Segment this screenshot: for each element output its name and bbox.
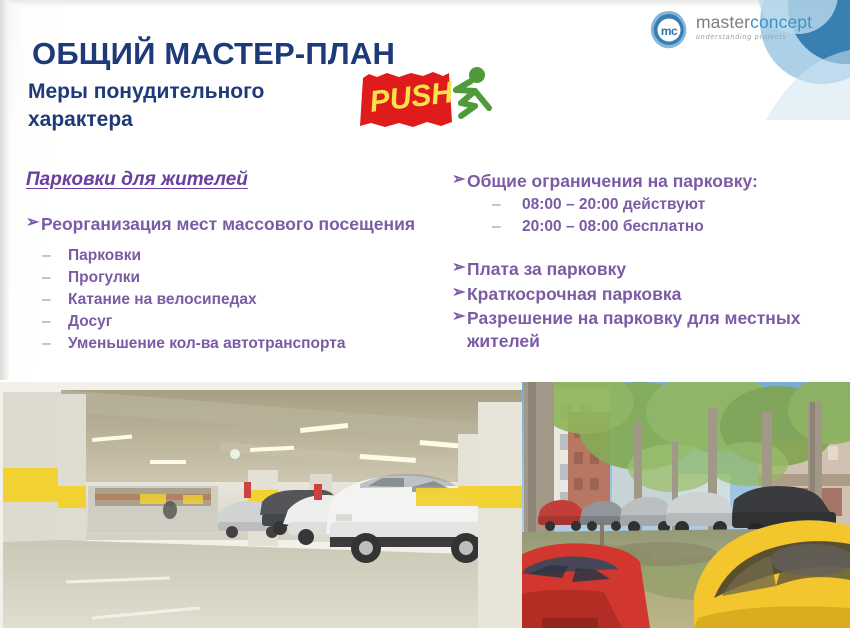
- dash-bullet-icon: –: [42, 333, 51, 355]
- bullet-short-term-parking: ➢ Краткосрочная парковка: [452, 283, 822, 305]
- bullet-parking-fee: ➢ Плата за парковку: [452, 258, 822, 280]
- sub-item-cycling: – Катание на велосипедах: [26, 289, 426, 311]
- photo-band: [0, 382, 850, 628]
- bullet-resident-permit: ➢ Разрешение на парковку для местных жит…: [452, 307, 822, 352]
- sub-item-walks: – Прогулки: [26, 267, 426, 289]
- dash-bullet-icon: –: [492, 194, 501, 216]
- street-illustration: [522, 382, 850, 628]
- mc-logo-icon: mc: [648, 9, 690, 51]
- page-subtitle: Меры понудительного характера: [28, 78, 368, 133]
- slide-canvas: mc masterconcept understanding projects …: [0, 0, 850, 628]
- photo-street-parking: [522, 382, 850, 628]
- bullet-text: Реорганизация мест массового посещения: [41, 214, 415, 234]
- garage-illustration: [0, 382, 522, 628]
- bullet-text: Разрешение на парковку для местных жител…: [467, 308, 801, 350]
- bullet-reorganization: ➢ Реорганизация мест массового посещения: [26, 213, 426, 235]
- bullet-general-restrictions: ➢ Общие ограничения на парковку:: [452, 170, 822, 192]
- spacer: [26, 237, 426, 245]
- sub-item-label: Досуг: [68, 313, 112, 330]
- left-content-column: Парковки для жителей ➢ Реорганизация мес…: [26, 170, 426, 355]
- arrow-bullet-icon: ➢: [452, 170, 465, 190]
- dash-bullet-icon: –: [42, 267, 51, 289]
- sub-item-leisure: – Досуг: [26, 311, 426, 333]
- dash-bullet-icon: –: [42, 311, 51, 333]
- sub-item-reduce-traffic: – Уменьшение кол-ва автотранспорта: [26, 333, 426, 355]
- page-title: ОБЩИЙ МАСТЕР-ПЛАН: [32, 38, 395, 69]
- logo-word-concept: concept: [750, 12, 812, 32]
- bullet-text: Плата за парковку: [467, 259, 626, 279]
- logo-wordmark: masterconcept understanding projects: [696, 14, 812, 41]
- section-heading-residents: Парковки для жителей: [26, 170, 248, 191]
- sub-item-label: Парковки: [68, 247, 141, 264]
- sub-item-parking: – Парковки: [26, 245, 426, 267]
- right-content-column: ➢ Общие ограничения на парковку: – 08:00…: [452, 170, 822, 354]
- logo-word-master: master: [696, 12, 750, 32]
- stick-figure-icon: [456, 67, 489, 116]
- arrow-bullet-icon: ➢: [452, 307, 465, 327]
- dash-bullet-icon: –: [42, 289, 51, 311]
- bullet-text: Краткосрочная парковка: [467, 284, 681, 304]
- sub-item-night-hours: – 20:00 – 08:00 бесплатно: [452, 216, 822, 238]
- photo-underground-parking-garage: [0, 382, 522, 628]
- sub-item-label: 08:00 – 20:00 действуют: [522, 196, 705, 213]
- arrow-bullet-icon: ➢: [26, 213, 39, 233]
- bullet-text: Общие ограничения на парковку:: [467, 171, 758, 191]
- logo-word: masterconcept: [696, 14, 812, 32]
- sub-item-label: Катание на велосипедах: [68, 291, 257, 308]
- arrow-bullet-icon: ➢: [452, 258, 465, 278]
- dash-bullet-icon: –: [492, 216, 501, 238]
- sub-item-label: Прогулки: [68, 269, 140, 286]
- push-graphic: PUSH: [357, 64, 507, 136]
- mc-mark-text: mc: [661, 24, 678, 38]
- spacer: [452, 238, 822, 258]
- arrow-bullet-icon: ➢: [452, 283, 465, 303]
- scan-edge-left: [0, 0, 9, 380]
- masterconcept-logo: mc masterconcept understanding projects: [648, 6, 808, 52]
- logo-tagline: understanding projects: [696, 34, 812, 41]
- sub-item-label: 20:00 – 08:00 бесплатно: [522, 218, 704, 235]
- sub-item-day-hours: – 08:00 – 20:00 действуют: [452, 194, 822, 216]
- sub-item-label: Уменьшение кол-ва автотранспорта: [68, 335, 345, 352]
- dash-bullet-icon: –: [42, 245, 51, 267]
